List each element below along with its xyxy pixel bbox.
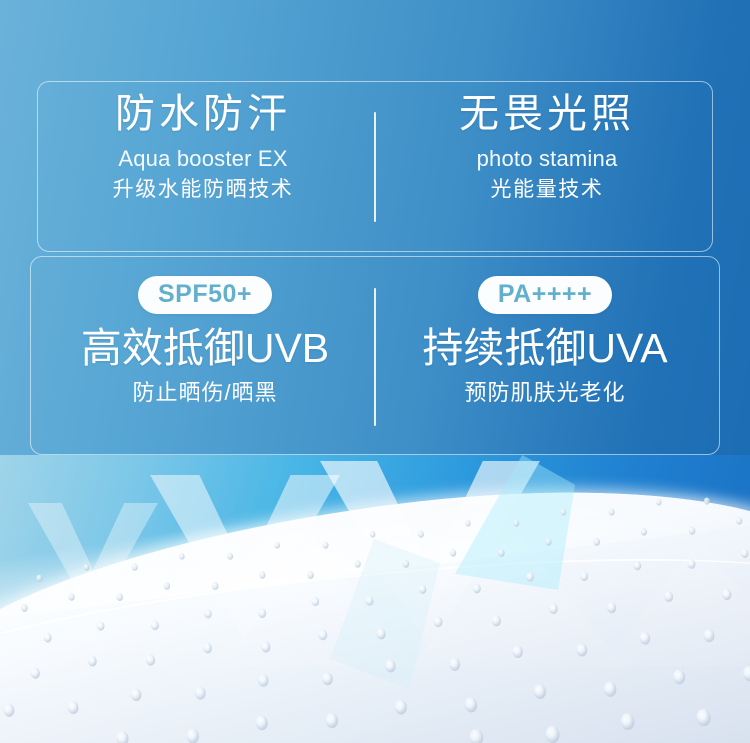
- sunscreen-feature-banner: 防水防汗 Aqua booster EX 升级水能防晒技术 无畏光照 photo…: [0, 0, 750, 743]
- waterproof-subtitle-en: Aqua booster EX: [48, 143, 358, 175]
- uva-headline: 持续抵御UVA: [380, 326, 710, 371]
- spf-badge: SPF50+: [138, 276, 272, 314]
- uva-subtitle: 预防肌肤光老化: [380, 379, 710, 408]
- feature-photostamina: 无畏光照 photo stamina 光能量技术: [392, 92, 702, 204]
- uvb-headline: 高效抵御UVB: [40, 326, 370, 371]
- feature-uvb: SPF50+ 高效抵御UVB 防止晒伤/晒黑: [40, 276, 370, 408]
- waterproof-subtitle-cn: 升级水能防晒技术: [48, 176, 358, 204]
- bottom-card-divider: [374, 288, 376, 426]
- photostamina-subtitle-en: photo stamina: [392, 143, 702, 175]
- waterproof-headline: 防水防汗: [48, 92, 358, 137]
- pa-badge-row: PA++++: [380, 276, 710, 322]
- uvb-subtitle: 防止晒伤/晒黑: [40, 379, 370, 408]
- top-card-divider: [374, 112, 376, 222]
- feature-uva: PA++++ 持续抵御UVA 预防肌肤光老化: [380, 276, 710, 408]
- product-photo-region: [0, 455, 750, 743]
- pa-badge: PA++++: [478, 276, 612, 314]
- photostamina-subtitle-cn: 光能量技术: [392, 176, 702, 204]
- feature-waterproof: 防水防汗 Aqua booster EX 升级水能防晒技术: [48, 92, 358, 204]
- spf-badge-row: SPF50+: [40, 276, 370, 322]
- photostamina-headline: 无畏光照: [392, 92, 702, 137]
